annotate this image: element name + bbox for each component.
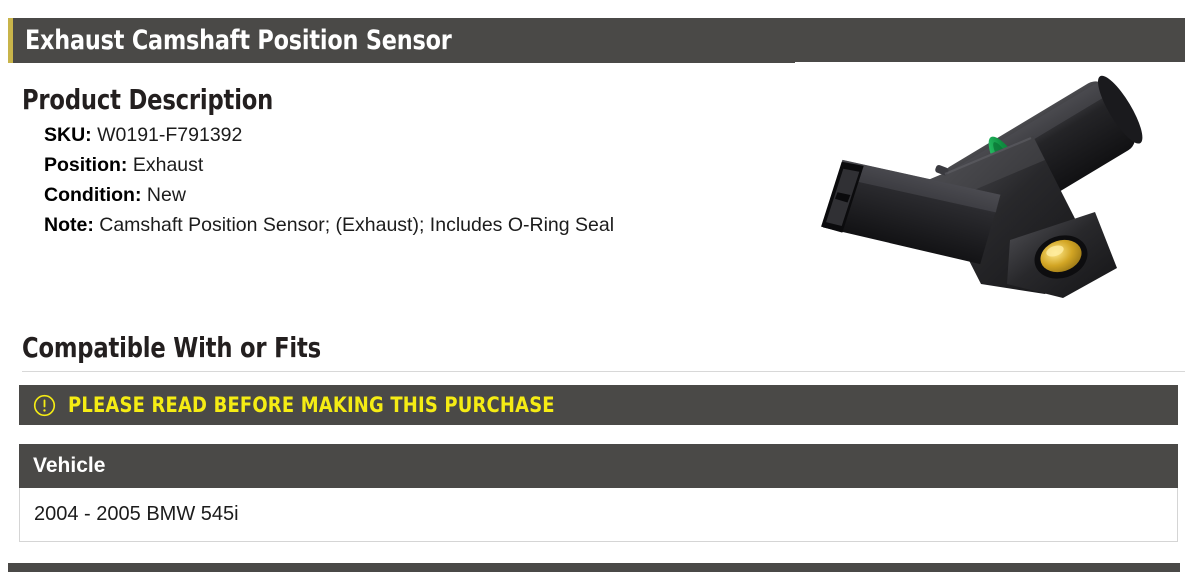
section-divider [22, 371, 1185, 372]
table-header-vehicle: Vehicle [33, 454, 105, 478]
spec-row-position: Position: Exhaust [44, 150, 744, 180]
spec-value: New [147, 184, 186, 206]
spec-row-note: Note: Camshaft Position Sensor; (Exhaust… [44, 210, 744, 240]
spec-label: Note: [44, 214, 94, 236]
table-cell-vehicle: 2004 - 2005 BMW 545i [34, 503, 239, 526]
product-description-heading: Product Description [22, 83, 273, 116]
spec-value: W0191-F791392 [97, 124, 242, 146]
spec-label: SKU: [44, 124, 92, 146]
product-spec-list: SKU: W0191-F791392 Position: Exhaust Con… [44, 120, 744, 240]
spec-value: Camshaft Position Sensor; (Exhaust); Inc… [99, 214, 614, 236]
page-title: Exhaust Camshaft Position Sensor [13, 25, 452, 56]
spec-row-condition: Condition: New [44, 180, 744, 210]
table-header-row: Vehicle [19, 444, 1178, 488]
sensor-illustration [795, 62, 1185, 312]
table-row: 2004 - 2005 BMW 545i [19, 488, 1178, 542]
exclamation-circle-icon [33, 394, 56, 417]
product-listing-page: Exhaust Camshaft Position Sensor Product… [0, 0, 1200, 580]
purchase-warning-banner: PLEASE READ BEFORE MAKING THIS PURCHASE [19, 385, 1178, 425]
compatibility-table: Vehicle 2004 - 2005 BMW 545i [19, 444, 1178, 542]
product-image [795, 62, 1185, 312]
page-title-bar: Exhaust Camshaft Position Sensor [8, 18, 1185, 63]
spec-row-sku: SKU: W0191-F791392 [44, 120, 744, 150]
warning-text: PLEASE READ BEFORE MAKING THIS PURCHASE [68, 393, 555, 417]
spec-value: Exhaust [133, 154, 203, 176]
spec-label: Position: [44, 154, 127, 176]
footer-bar [8, 563, 1180, 572]
compatible-with-heading: Compatible With or Fits [22, 331, 321, 364]
spec-label: Condition: [44, 184, 141, 206]
